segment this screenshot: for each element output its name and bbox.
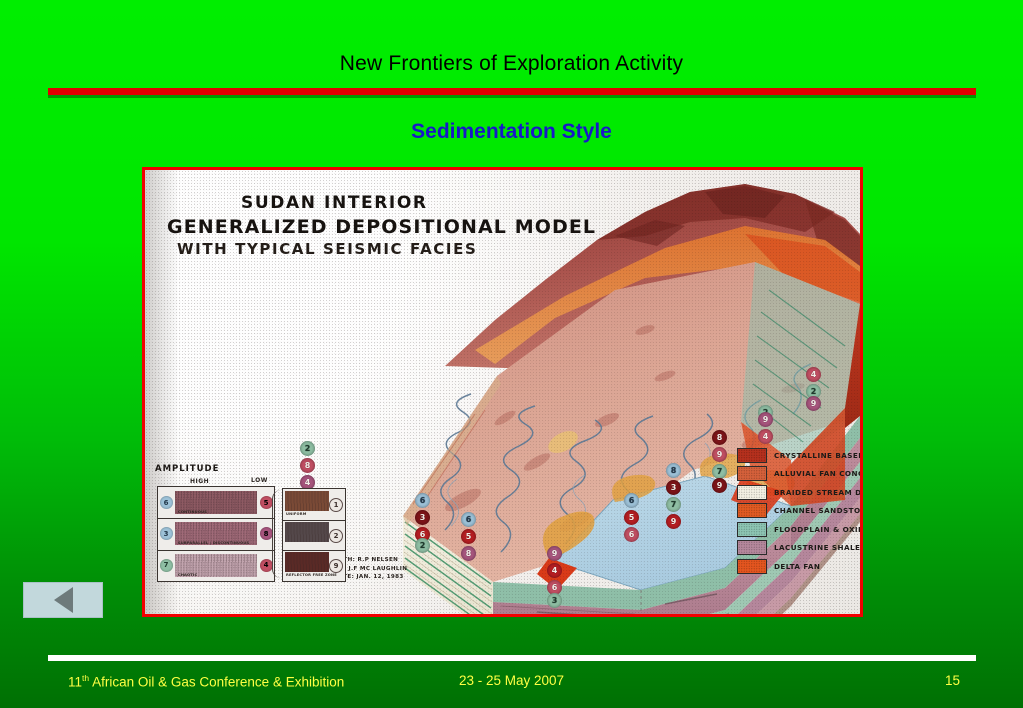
facies-marker: 9 [758,412,773,427]
amplitude-seismic-swatch [285,522,329,542]
amplitude-inset: AMPLITUDE HIGH LOW 65CONTINUOUS38SUBPARA… [151,464,311,590]
facies-marker: 9 [666,514,681,529]
legend-row: CRYSTALLINE BASEMENT [737,446,863,465]
facies-marker: 9 [806,396,821,411]
facies-marker: 7 [712,464,727,479]
facies-marker: 6 [461,512,476,527]
legend-label: FLOODPLAIN & OXIDIZED [774,525,863,534]
amplitude-row-label: CONTINUOUS [178,510,207,514]
amplitude-chip: 8 [260,527,273,540]
facies-marker: 6 [624,527,639,542]
amplitude-chip: 3 [160,527,173,540]
page-title: New Frontiers of Exploration Activity [0,52,1023,76]
legend-swatch [737,503,767,518]
facies-marker: 7 [666,497,681,512]
legend-label: DELTA FAN [774,562,820,571]
facies-marker: 6 [415,493,430,508]
left-arrow-icon [54,587,73,613]
amplitude-seismic-swatch [285,552,329,572]
facies-marker: 5 [461,529,476,544]
amplitude-right-panel: UNIFORM1REFLECTOR FREE ZONE2MOUNDED9 [282,488,346,582]
amplitude-chip: 2 [329,529,343,543]
facies-marker: 4 [758,429,773,444]
facies-marker: 8 [712,430,727,445]
facies-marker: 6 [624,493,639,508]
amplitude-chip: 1 [329,498,343,512]
facies-marker: 8 [461,546,476,561]
amplitude-row-label: SUBPARALLEL / DISCONTINUOUS [178,541,249,545]
legend-swatch [737,448,767,463]
amplitude-high-label: HIGH [190,478,209,485]
amplitude-low-label: LOW [251,477,268,484]
amplitude-row: 38 [158,518,274,550]
legend-row: LACUSTRINE SHALE [737,539,863,558]
amplitude-right-row: MOUNDED9 [283,550,345,581]
amplitude-right-row-label: UNIFORM [286,512,307,516]
facies-marker: 4 [806,367,821,382]
depositional-model-figure: SUDAN INTERIOR GENERALIZED DEPOSITIONAL … [142,167,863,617]
figure-title-line3: WITH TYPICAL SEISMIC FACIES [177,240,477,258]
header-divider [48,88,976,95]
amplitude-chip: 4 [260,559,273,572]
legend-label: CRYSTALLINE BASEMENT [774,451,863,460]
facies-marker: 9 [712,478,727,493]
amplitude-chip: 9 [329,559,343,573]
facies-marker: 8 [666,463,681,478]
previous-slide-button[interactable] [23,582,103,618]
amplitude-right-row: REFLECTOR FREE ZONE2 [283,520,345,552]
legend-swatch [737,466,767,481]
legend-swatch [737,559,767,574]
amplitude-chip: 6 [160,496,173,509]
amplitude-chip: 7 [160,559,173,572]
legend-label: CHANNEL SANDSTONE [774,506,863,515]
amplitude-row: 74 [158,550,274,582]
legend-row: DELTA FAN [737,557,863,576]
legend-swatch [737,485,767,500]
amplitude-title: AMPLITUDE [155,464,219,474]
figure-title-line2: GENERALIZED DEPOSITIONAL MODEL [167,216,596,238]
legend-row: BRAIDED STREAM DEPOSITS [737,483,863,502]
amplitude-row: 65 [158,487,274,519]
legend-label: LACUSTRINE SHALE [774,543,860,552]
slide: New Frontiers of Exploration Activity Se… [0,0,1023,708]
footer-divider [48,655,976,661]
figure-title-line1: SUDAN INTERIOR [241,193,428,213]
slide-subtitle: Sedimentation Style [0,120,1023,144]
facies-marker: 9 [712,447,727,462]
legend-swatch [737,540,767,555]
facies-marker: 5 [624,510,639,525]
legend-label: ALLUVIAL FAN CONGLOMERATE [774,469,863,478]
facies-marker: 3 [666,480,681,495]
amplitude-left-panel: 65CONTINUOUS38SUBPARALLEL / DISCONTINUOU… [157,486,275,582]
amplitude-right-row: UNIFORM1 [283,489,345,521]
footer-page-number: 15 [0,673,1023,688]
legend: CRYSTALLINE BASEMENTALLUVIAL FAN CONGLOM… [737,446,863,576]
facies-marker: 4 [547,563,562,578]
facies-marker: 2 [415,538,430,553]
amplitude-chip: 5 [260,496,273,509]
facies-marker: 2 [300,441,315,456]
legend-row: FLOODPLAIN & OXIDIZED [737,520,863,539]
legend-row: CHANNEL SANDSTONE [737,502,863,521]
facies-marker: 3 [415,510,430,525]
facies-marker: 3 [547,593,562,608]
amplitude-seismic-swatch [285,491,329,511]
legend-swatch [737,522,767,537]
legend-label: BRAIDED STREAM DEPOSITS [774,488,863,497]
legend-row: ALLUVIAL FAN CONGLOMERATE [737,465,863,484]
facies-marker: 9 [547,546,562,561]
amplitude-row-label: CHAOTIC [178,573,197,577]
